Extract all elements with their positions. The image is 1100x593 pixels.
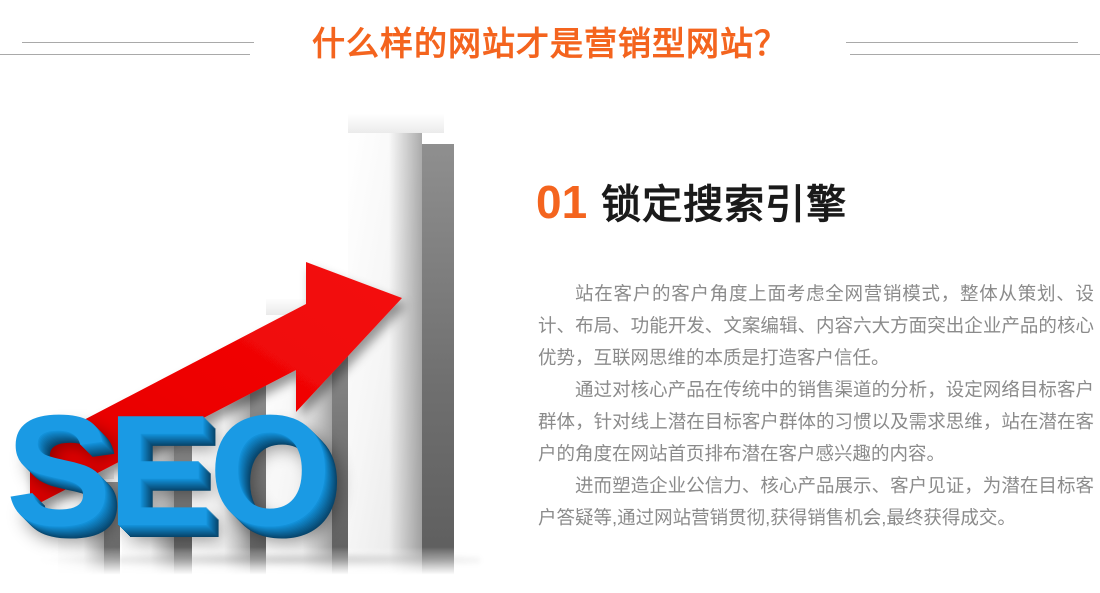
section-body: 站在客户的客户角度上面考虑全网营销模式，整体从策划、设计、布局、功能开发、文案编… — [538, 278, 1094, 534]
page-root: 什么样的网站才是营销型网站？ — [0, 0, 1100, 593]
page-header: 什么样的网站才是营销型网站？ — [0, 0, 1100, 92]
body-paragraph-1: 站在客户的客户角度上面考虑全网营销模式，整体从策划、设计、布局、功能开发、文案编… — [538, 278, 1094, 374]
hero-canvas: your business SEO — [0, 92, 520, 593]
header-rule-right-top — [846, 42, 1078, 43]
body-paragraph-3: 进而塑造企业公信力、核心产品展示、客户见证，为潜在目标客户答疑等,通过网站营销贯… — [538, 470, 1094, 534]
body-paragraph-2: 通过对核心产品在传统中的销售渠道的分析，设定网络目标客户群体，针对线上潜在目标客… — [538, 374, 1094, 470]
section-title: 锁定搜索引擎 — [601, 183, 847, 227]
section-number: 01 — [536, 176, 587, 228]
section-heading: 01锁定搜索引擎 — [536, 172, 847, 230]
seo-wordmark: SEO — [6, 392, 328, 550]
hero-illustration: your business SEO — [0, 92, 520, 593]
content-column: 01锁定搜索引擎 站在客户的客户角度上面考虑全网营销模式，整体从策划、设计、布局… — [522, 92, 1100, 593]
page-title: 什么样的网站才是营销型网站？ — [0, 22, 1100, 66]
header-rule-right-bottom — [850, 54, 1100, 55]
ground-fade — [0, 547, 520, 593]
